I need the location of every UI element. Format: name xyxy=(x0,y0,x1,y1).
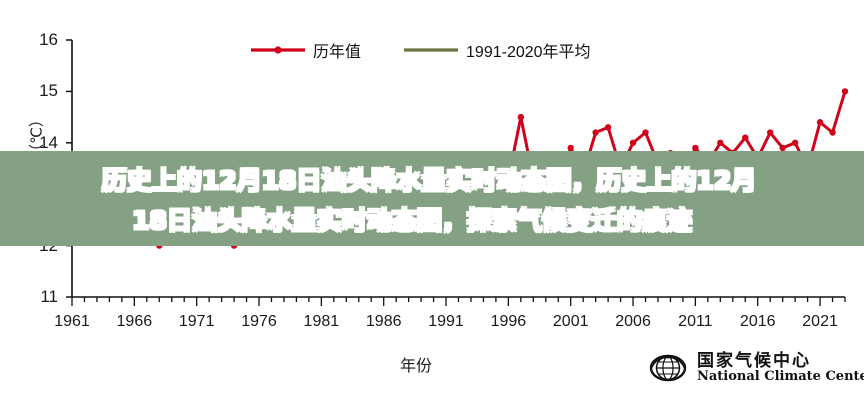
overlay-title-line-1: 历史上的12月18日汕头降水量实时动态图，历史上的12月 xyxy=(102,161,762,197)
legend-item-normal[interactable]: 1991-2020年平均 xyxy=(403,38,591,62)
legend-line-icon xyxy=(403,43,459,57)
x-tick-label: 2011 xyxy=(668,314,722,330)
legend-line-marker-icon xyxy=(250,43,306,57)
x-tick-label: 1966 xyxy=(107,314,161,330)
legend-item-annual[interactable]: 历年值 xyxy=(250,38,361,62)
x-tick-label: 2021 xyxy=(793,314,847,330)
logo-text-block: 国家气候中心 National Climate Center xyxy=(697,352,864,384)
logo-name-cn: 国家气候中心 xyxy=(697,352,864,370)
x-tick-label: 1991 xyxy=(419,314,473,330)
y-tick-label: 16 xyxy=(24,31,58,48)
x-tick-label: 1981 xyxy=(294,314,348,330)
logo-name-en: National Climate Center xyxy=(697,370,864,384)
chart-legend: 历年值 1991-2020年平均 xyxy=(250,38,591,62)
overlay-title-line-2: 18日汕头降水量实时动态图，探索气候变迁的痕迹 xyxy=(132,201,732,237)
x-tick-label: 2006 xyxy=(606,314,660,330)
screenshot-root: 161514131211 196119661971197619811986199… xyxy=(0,0,864,400)
x-tick-label: 1976 xyxy=(232,314,286,330)
x-tick-label: 1961 xyxy=(45,314,99,330)
x-axis-label: 年份 xyxy=(400,352,432,376)
x-tick-label: 1971 xyxy=(170,314,224,330)
x-tick-label: 2016 xyxy=(731,314,785,330)
legend-label-normal: 1991-2020年平均 xyxy=(466,38,591,62)
legend-label-annual: 历年值 xyxy=(313,38,361,62)
x-tick-label: 1996 xyxy=(481,314,535,330)
x-tick-label: 1986 xyxy=(357,314,411,330)
globe-emblem-icon xyxy=(648,353,688,383)
overlay-banner-text: 历史上的12月18日汕头降水量实时动态图，历史上的12月 18日汕头降水量实时动… xyxy=(0,151,864,246)
x-tick-label: 2001 xyxy=(544,314,598,330)
y-tick-label: 11 xyxy=(24,288,58,305)
national-climate-center-logo: 国家气候中心 National Climate Center xyxy=(648,352,864,384)
